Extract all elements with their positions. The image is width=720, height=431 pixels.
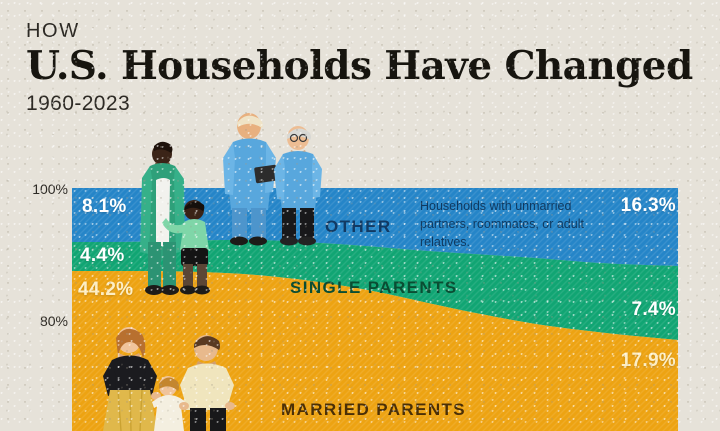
illustration-married-family (88, 318, 238, 431)
value-other-2023: 16.3% (621, 195, 676, 217)
band-label-married-parents: MARRIED PARENTS (281, 400, 466, 420)
band-label-single-parents: SINGLE PARENTS (290, 278, 458, 298)
kicker-text: HOW (26, 20, 693, 43)
y-axis-tick-80: 80% (12, 313, 68, 329)
illustration-elderly-couple (215, 108, 325, 246)
header: HOW U.S. Households Have Changed 1960-20… (26, 20, 693, 116)
value-married-2023: 17.9% (621, 350, 676, 372)
illustration-single-parent (128, 138, 224, 298)
page-subtitle: 1960-2023 (26, 92, 693, 116)
value-married-1960: 44.2% (78, 279, 133, 301)
value-single-2023: 7.4% (631, 299, 676, 321)
value-single-1960: 4.4% (80, 245, 125, 267)
page-title: U.S. Households Have Changed (26, 46, 693, 87)
band-label-other: OTHER (325, 217, 392, 237)
y-axis-tick-100: 100% (12, 181, 68, 197)
value-other-1960: 8.1% (82, 196, 127, 218)
annotation-other: Households with unmarried partners, room… (420, 197, 602, 251)
